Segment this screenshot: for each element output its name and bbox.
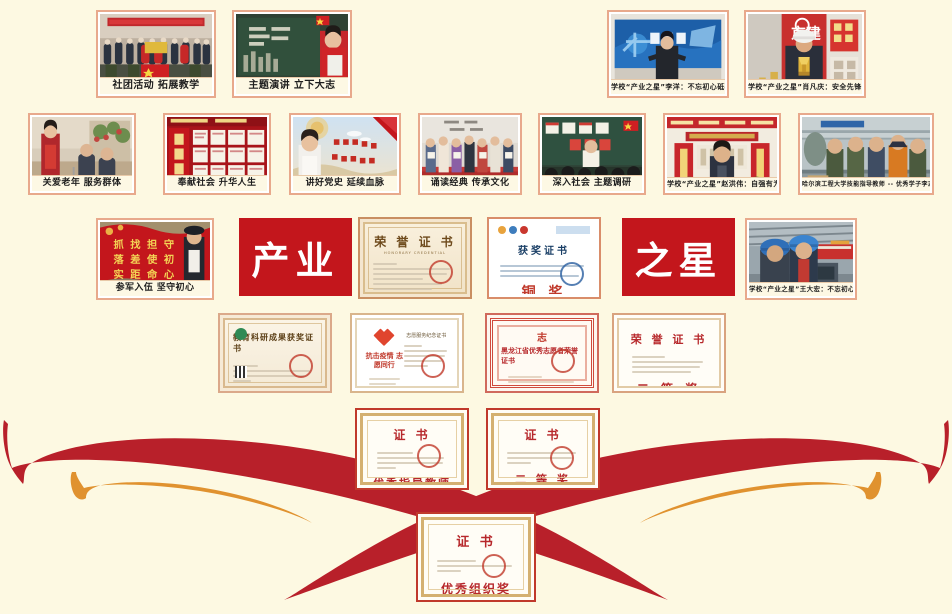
photo-card-party-history[interactable]: 讲好党史 延续血脉: [289, 113, 401, 195]
photo-frame: 深入社会 主题调研: [542, 117, 642, 191]
photo-frame: 主题演讲 立下大志: [236, 14, 348, 94]
heart-icon: [377, 332, 391, 346]
svg-text:抓: 抓: [114, 238, 125, 251]
photo-caption: 参军入伍 坚守初心: [100, 280, 210, 296]
photo-frame: 社团活动 拓展教学: [100, 14, 212, 94]
certificate-award-bronze[interactable]: 获奖证书 铜 奖: [487, 217, 601, 299]
photo-caption: 哈尔滨工程大学技能指导教师 -- 优秀学子李志刚: [802, 177, 930, 191]
photo-frame: 哈尔滨工程大学技能指导教师 -- 优秀学子李志刚: [802, 117, 930, 191]
certificate-heilongjiang-volunteer[interactable]: 志 黑龙江省优秀志愿者荣誉证书: [485, 313, 599, 393]
photo-frame: 京建 学校“产业之星”肖凡庆：安全先锋“龙职”精英: [748, 14, 862, 94]
certificate-body: [632, 353, 706, 376]
culture-wall-board: 社团活动 拓展教学: [0, 0, 952, 610]
certificate-outstanding-instructor[interactable]: 证 书 优秀指导教师: [355, 408, 469, 490]
certificate-seal: [429, 260, 453, 284]
photo-caption: 学校“产业之星”王大宏：不忘初心 “质” 卫医心: [749, 282, 853, 296]
svg-text:命: 命: [146, 268, 158, 281]
certificate-title: 获奖证书: [518, 242, 570, 257]
certificate-qr-code: [235, 366, 247, 378]
svg-text:担: 担: [147, 238, 157, 251]
certificate-honor-second-prize[interactable]: 荣 誉 证 书 二 等 奖: [612, 313, 726, 393]
photo-frame: 学校“产业之星”赵洪伟：自强有为 兴业报国: [667, 117, 777, 191]
certificate-seal: [417, 444, 441, 468]
photo-frame: 抓找担守 落差使初 实距命心 参军入伍 坚守初心: [100, 222, 210, 296]
svg-text:落: 落: [114, 253, 125, 266]
certificate-seal: [560, 262, 584, 286]
photo-card-harbin-engineering[interactable]: 哈尔滨工程大学技能指导教师 -- 优秀学子李志刚: [798, 113, 934, 195]
photo-caption: 奉献社会 升华人生: [167, 175, 267, 191]
certificate-side-title: 志愿服务纪念证书: [404, 332, 449, 339]
photo-frame: 学校“产业之星”王大宏：不忘初心 “质” 卫医心: [749, 222, 853, 296]
photo-card-star-xiaofanqing[interactable]: 京建 学校“产业之星”肖凡庆：安全先锋“龙职”精英: [744, 10, 866, 98]
photo-card-social-research[interactable]: 深入社会 主题调研: [538, 113, 646, 195]
certificate-seal: [421, 354, 445, 378]
photo-caption: 深入社会 主题调研: [542, 175, 642, 191]
svg-text:找: 找: [130, 238, 141, 251]
photo-card-star-zhaohongwei[interactable]: 学校“产业之星”赵洪伟：自强有为 兴业报国: [663, 113, 781, 195]
certificate-seal: [551, 349, 575, 373]
certificate-inner: 证 书 二 等 奖: [491, 413, 595, 485]
photo-card-serve-society[interactable]: 奉献社会 升华人生: [163, 113, 271, 195]
logo-icon-blue: [509, 226, 517, 234]
certificate-inner: 志 黑龙江省优秀志愿者荣誉证书: [490, 318, 594, 388]
certificate-volunteer-epidemic[interactable]: 抗击疫情 志愿同行 志愿服务纪念证书: [350, 313, 464, 393]
photo-frame: 讲好党史 延续血脉: [293, 117, 397, 191]
certificate-education-research[interactable]: 教育科研成果获奖证书: [218, 313, 332, 393]
certificate-outstanding-organization[interactable]: 证 书 优秀组织奖: [416, 512, 536, 602]
certificate-logo-row: [498, 226, 528, 234]
certificate-right-panel: 志愿服务纪念证书: [404, 326, 449, 370]
photo-card-star-wangdahong[interactable]: 学校“产业之星”王大宏：不忘初心 “质” 卫医心: [745, 218, 857, 300]
certificate-ornate-border: [428, 524, 524, 590]
photo-frame: 奉献社会 升华人生: [167, 117, 267, 191]
ribbon-orange-right-path: [640, 472, 881, 523]
certificate-inner: 获奖证书 铜 奖: [492, 222, 596, 294]
certificate-ornate-border: [497, 325, 587, 381]
svg-text:使: 使: [146, 253, 158, 266]
photo-card-elderly-care[interactable]: 关爱老年 服务群体: [28, 113, 136, 195]
photo-caption: 讲好党史 延续血脉: [293, 175, 397, 191]
photo-card-classic-recital[interactable]: 诵读经典 传承文化: [418, 113, 522, 195]
banner-word-chanye: 产业: [239, 218, 352, 296]
svg-text:差: 差: [130, 253, 140, 266]
certificate-slogan: 抗击疫情 志愿同行: [365, 352, 404, 370]
photo-frame: 关爱老年 服务群体: [32, 117, 132, 191]
photo-caption: 关爱老年 服务群体: [32, 175, 132, 191]
svg-text:守: 守: [164, 238, 174, 251]
certificate-inner: 证 书 优秀组织奖: [421, 517, 531, 597]
certificate-honor-gold[interactable]: 荣 誉 证 书 HONORARY CREDENTIAL: [358, 217, 472, 299]
photo-frame: 学校“产业之星”李洋：不忘初心砥砺前行: [611, 14, 725, 94]
certificate-ornate-border: [367, 420, 457, 478]
ribbon-orange-left-path: [71, 472, 312, 523]
certificate-second-prize-row5[interactable]: 证 书 二 等 奖: [486, 408, 600, 490]
certificate-inner: 抗击疫情 志愿同行 志愿服务纪念证书: [355, 318, 459, 388]
svg-text:初: 初: [164, 253, 174, 266]
svg-text:实: 实: [114, 268, 124, 281]
photo-caption: 学校“产业之星”肖凡庆：安全先锋“龙职”精英: [748, 79, 862, 94]
certificate-seal: [482, 554, 506, 578]
certificate-left-lines: [369, 375, 400, 388]
certificate-award-level: 二 等 奖: [637, 380, 701, 388]
certificate-ornate-border: [498, 420, 588, 478]
certificate-award-level: 铜 奖: [522, 282, 567, 294]
certificate-title: 荣 誉 证 书: [631, 331, 708, 347]
logo-icon-red: [520, 226, 528, 234]
certificate-inner: 证 书 优秀指导教师: [360, 413, 464, 485]
certificate-inner: 荣 誉 证 书 二 等 奖: [617, 318, 721, 388]
banner-word-zhixing: 之星: [622, 218, 735, 296]
photo-card-theme-speech[interactable]: 主题演讲 立下大志: [232, 10, 352, 98]
certificate-seal: [289, 354, 313, 378]
photo-caption: 主题演讲 立下大志: [236, 77, 348, 94]
photo-card-community-activity[interactable]: 社团活动 拓展教学: [96, 10, 216, 98]
photo-frame: 诵读经典 传承文化: [422, 117, 518, 191]
photo-caption: 诵读经典 传承文化: [422, 175, 518, 191]
certificate-left-panel: 抗击疫情 志愿同行: [365, 326, 404, 388]
photo-caption: 学校“产业之星”李洋：不忘初心砥砺前行: [611, 79, 725, 94]
logo-icon-orange: [498, 226, 506, 234]
photo-card-military-enlist[interactable]: 抓找担守 落差使初 实距命心 参军入伍 坚守初心: [96, 218, 214, 300]
certificate-org-mark: [556, 226, 590, 234]
photo-card-star-liyang[interactable]: 学校“产业之星”李洋：不忘初心砥砺前行: [607, 10, 729, 98]
certificate-inner: 教育科研成果获奖证书: [223, 318, 327, 388]
photo-caption: 社团活动 拓展教学: [100, 77, 212, 94]
certificate-seal: [550, 446, 574, 470]
certificate-inner: 荣 誉 证 书 HONORARY CREDENTIAL: [363, 222, 467, 294]
photo-caption: 学校“产业之星”赵洪伟：自强有为 兴业报国: [667, 177, 777, 191]
certificate-badge-icon: [235, 328, 247, 340]
